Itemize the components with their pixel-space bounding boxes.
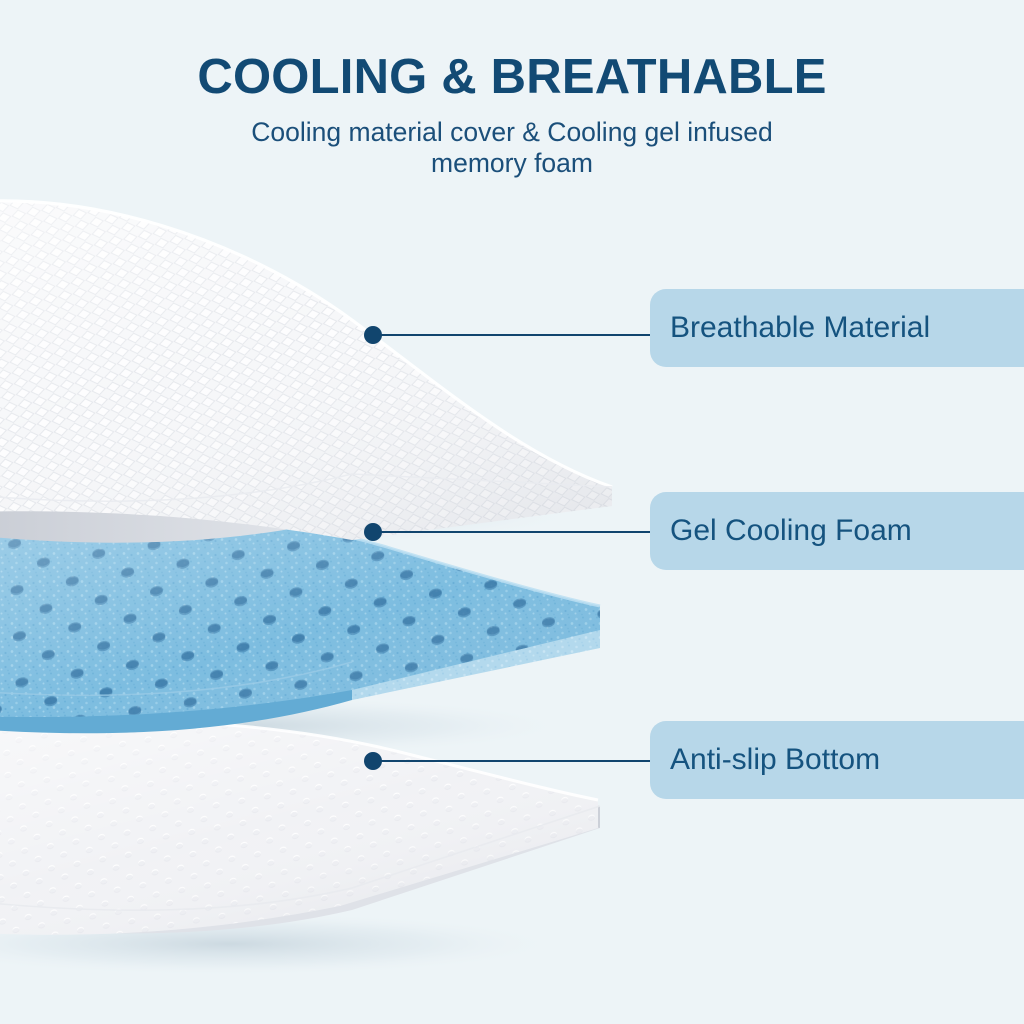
callout-label: Gel Cooling Foam	[650, 516, 912, 546]
callout-anti-slip-bottom: Anti-slip Bottom	[650, 721, 1024, 799]
callout-label: Breathable Material	[650, 313, 930, 343]
infographic-canvas: COOLING & BREATHABLE Cooling material co…	[0, 0, 1024, 1024]
callout-label: Anti-slip Bottom	[650, 745, 880, 775]
callout-breathable-material: Breathable Material	[650, 289, 1024, 367]
callout-gel-cooling-foam: Gel Cooling Foam	[650, 492, 1024, 570]
breathable-material-layer	[0, 170, 700, 570]
